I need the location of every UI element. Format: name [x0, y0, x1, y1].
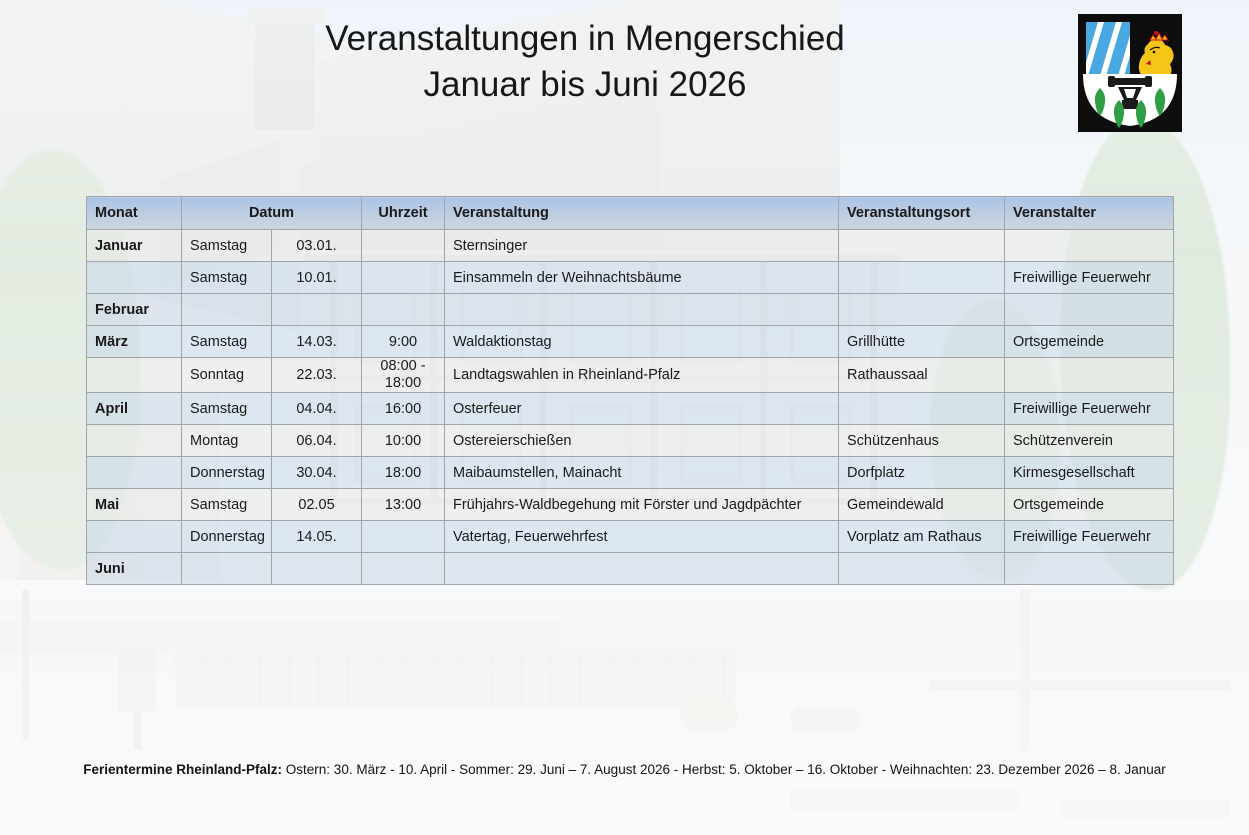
page-title-line2: Januar bis Juni 2026	[120, 62, 1050, 108]
event-location-cell: Grillhütte	[839, 326, 1005, 358]
table-row[interactable]: Montag06.04.10:00OstereierschießenSchütz…	[87, 425, 1174, 457]
table-header-row: Monat Datum Uhrzeit Veranstaltung Verans…	[87, 197, 1174, 230]
event-organizer-cell: Freiwillige Feuerwehr	[1005, 393, 1174, 425]
event-time-part: 18:00	[370, 375, 436, 392]
event-weekday-cell: Samstag	[182, 262, 272, 294]
event-time-part: 08:00 -	[370, 358, 436, 375]
table-row[interactable]: Donnerstag30.04.18:00Maibaumstellen, Mai…	[87, 457, 1174, 489]
event-location-cell: Dorfplatz	[839, 457, 1005, 489]
event-date-cell: 30.04.	[272, 457, 362, 489]
event-weekday-cell: Samstag	[182, 230, 272, 262]
event-month-cell	[87, 425, 182, 457]
event-time-cell: 9:00	[362, 326, 445, 358]
event-location-cell	[839, 230, 1005, 262]
coat-of-arms-icon	[1078, 14, 1182, 132]
holiday-footer-text: Ostern: 30. März - 10. April - Sommer: 2…	[282, 762, 1166, 777]
event-weekday-cell: Samstag	[182, 393, 272, 425]
holiday-footer-label: Ferientermine Rheinland-Pfalz:	[83, 762, 282, 777]
event-organizer-cell	[1005, 294, 1174, 326]
event-location-cell	[839, 553, 1005, 585]
event-name-cell: Osterfeuer	[445, 393, 839, 425]
event-time-cell	[362, 262, 445, 294]
event-name-cell: Landtagswahlen in Rheinland-Pfalz	[445, 358, 839, 393]
event-name-cell: Frühjahrs-Waldbegehung mit Förster und J…	[445, 489, 839, 521]
page-title-line1: Veranstaltungen in Mengerschied	[120, 16, 1050, 62]
col-header-monat[interactable]: Monat	[87, 197, 182, 230]
event-time-cell	[362, 294, 445, 326]
event-date-cell: 22.03.	[272, 358, 362, 393]
event-weekday-cell	[182, 294, 272, 326]
event-month-cell: Februar	[87, 294, 182, 326]
table-row[interactable]: MärzSamstag14.03.9:00WaldaktionstagGrill…	[87, 326, 1174, 358]
event-location-cell	[839, 393, 1005, 425]
event-name-cell	[445, 294, 839, 326]
event-weekday-cell: Donnerstag	[182, 457, 272, 489]
event-weekday-cell: Montag	[182, 425, 272, 457]
event-date-cell: 02.05	[272, 489, 362, 521]
col-header-veranstaltungsort[interactable]: Veranstaltungsort	[839, 197, 1005, 230]
event-month-cell: Mai	[87, 489, 182, 521]
event-month-cell: Juni	[87, 553, 182, 585]
event-name-cell: Einsammeln der Weihnachtsbäume	[445, 262, 839, 294]
event-organizer-cell	[1005, 230, 1174, 262]
event-weekday-cell: Donnerstag	[182, 521, 272, 553]
event-date-cell: 14.05.	[272, 521, 362, 553]
event-name-cell: Maibaumstellen, Mainacht	[445, 457, 839, 489]
event-organizer-cell: Ortsgemeinde	[1005, 326, 1174, 358]
event-month-cell	[87, 262, 182, 294]
event-time-cell	[362, 521, 445, 553]
event-location-cell	[839, 294, 1005, 326]
event-organizer-cell	[1005, 553, 1174, 585]
event-organizer-cell: Ortsgemeinde	[1005, 489, 1174, 521]
event-name-cell: Ostereierschießen	[445, 425, 839, 457]
event-date-cell: 04.04.	[272, 393, 362, 425]
event-name-cell: Vatertag, Feuerwehrfest	[445, 521, 839, 553]
table-row[interactable]: JanuarSamstag03.01.Sternsinger	[87, 230, 1174, 262]
event-location-cell: Gemeindewald	[839, 489, 1005, 521]
col-header-veranstaltung[interactable]: Veranstaltung	[445, 197, 839, 230]
event-weekday-cell: Samstag	[182, 326, 272, 358]
event-month-cell: Januar	[87, 230, 182, 262]
event-time-cell: 18:00	[362, 457, 445, 489]
event-time-cell: 10:00	[362, 425, 445, 457]
event-time-cell	[362, 553, 445, 585]
table-row[interactable]: Juni	[87, 553, 1174, 585]
table-row[interactable]: MaiSamstag02.0513:00Frühjahrs-Waldbegehu…	[87, 489, 1174, 521]
event-date-cell: 10.01.	[272, 262, 362, 294]
event-date-cell: 06.04.	[272, 425, 362, 457]
col-header-veranstalter[interactable]: Veranstalter	[1005, 197, 1174, 230]
event-location-cell: Rathaussaal	[839, 358, 1005, 393]
event-month-cell	[87, 521, 182, 553]
event-organizer-cell: Freiwillige Feuerwehr	[1005, 521, 1174, 553]
event-organizer-cell: Freiwillige Feuerwehr	[1005, 262, 1174, 294]
event-location-cell: Vorplatz am Rathaus	[839, 521, 1005, 553]
event-organizer-cell: Schützenverein	[1005, 425, 1174, 457]
events-table: Monat Datum Uhrzeit Veranstaltung Verans…	[86, 196, 1174, 585]
event-organizer-cell: Kirmesgesellschaft	[1005, 457, 1174, 489]
event-name-cell: Waldaktionstag	[445, 326, 839, 358]
event-date-cell: 14.03.	[272, 326, 362, 358]
event-date-cell	[272, 294, 362, 326]
col-header-uhrzeit[interactable]: Uhrzeit	[362, 197, 445, 230]
event-weekday-cell: Samstag	[182, 489, 272, 521]
event-month-cell: März	[87, 326, 182, 358]
event-month-cell: April	[87, 393, 182, 425]
event-month-cell	[87, 457, 182, 489]
event-date-cell: 03.01.	[272, 230, 362, 262]
table-row[interactable]: Februar	[87, 294, 1174, 326]
event-weekday-cell	[182, 553, 272, 585]
event-time-cell: 16:00	[362, 393, 445, 425]
event-time-cell: 13:00	[362, 489, 445, 521]
event-month-cell	[87, 358, 182, 393]
event-name-cell	[445, 553, 839, 585]
table-row[interactable]: AprilSamstag04.04.16:00OsterfeuerFreiwil…	[87, 393, 1174, 425]
table-row[interactable]: Sonntag22.03.08:00 -18:00Landtagswahlen …	[87, 358, 1174, 393]
table-row[interactable]: Samstag10.01.Einsammeln der Weihnachtsbä…	[87, 262, 1174, 294]
page-title: Veranstaltungen in Mengerschied Januar b…	[120, 16, 1050, 108]
event-organizer-cell	[1005, 358, 1174, 393]
table-body: JanuarSamstag03.01.SternsingerSamstag10.…	[87, 230, 1174, 585]
event-time-cell: 08:00 -18:00	[362, 358, 445, 393]
table-row[interactable]: Donnerstag14.05.Vatertag, FeuerwehrfestV…	[87, 521, 1174, 553]
event-weekday-cell: Sonntag	[182, 358, 272, 393]
event-time-cell	[362, 230, 445, 262]
holiday-footer: Ferientermine Rheinland-Pfalz: Ostern: 3…	[0, 762, 1249, 777]
event-location-cell: Schützenhaus	[839, 425, 1005, 457]
event-date-cell	[272, 553, 362, 585]
event-name-cell: Sternsinger	[445, 230, 839, 262]
event-location-cell	[839, 262, 1005, 294]
col-header-datum[interactable]: Datum	[182, 197, 362, 230]
